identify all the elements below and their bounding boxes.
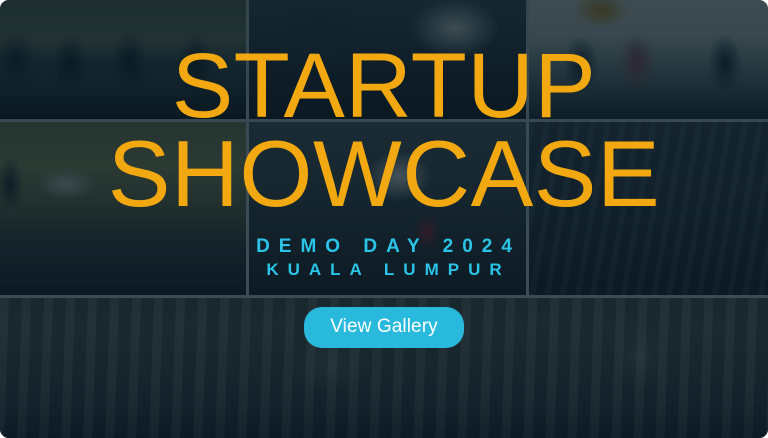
hero-subtitle-event-date: DEMO DAY 2024 xyxy=(247,235,521,259)
view-gallery-button[interactable]: View Gallery xyxy=(304,307,464,348)
hero-title: STARTUP SHOWCASE xyxy=(108,44,660,217)
hero-subtitle-location: KUALA LUMPUR xyxy=(247,259,521,281)
hero-title-line-1: STARTUP xyxy=(108,44,660,130)
startup-showcase-hero-banner: STARTUP SHOWCASE DEMO DAY 2024 KUALA LUM… xyxy=(0,0,768,438)
hero-title-line-2: SHOWCASE xyxy=(108,130,660,217)
cta-container: View Gallery xyxy=(304,307,464,348)
hero-content: STARTUP SHOWCASE DEMO DAY 2024 KUALA LUM… xyxy=(0,0,768,438)
hero-subtitle: DEMO DAY 2024 KUALA LUMPUR xyxy=(247,235,521,281)
